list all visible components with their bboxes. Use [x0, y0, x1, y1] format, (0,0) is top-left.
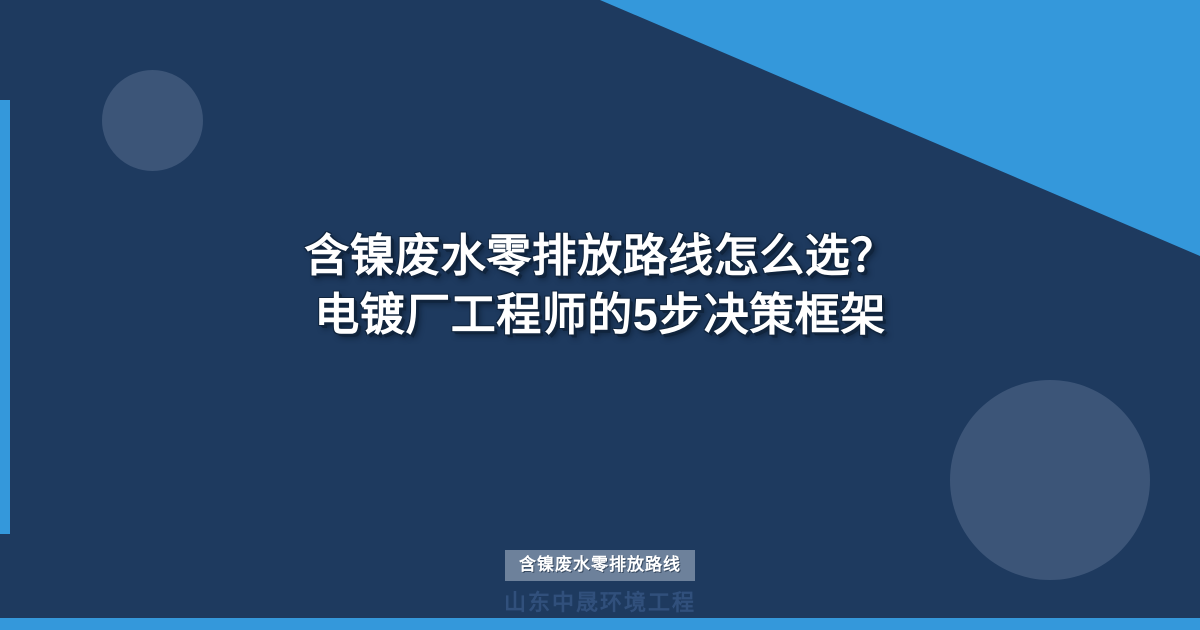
decorative-circle-top-left — [102, 70, 203, 171]
bottom-accent-bar — [0, 618, 1200, 630]
footer: 含镍废水零排放路线 山东中晟环境工程 — [0, 550, 1200, 616]
footer-topic-badge: 含镍废水零排放路线 — [505, 550, 695, 580]
cover-banner: 含镍废水零排放路线怎么选？电镀厂工程师的5步决策框架 含镍废水零排放路线 山东中… — [0, 0, 1200, 630]
footer-brand-name: 山东中晟环境工程 — [504, 590, 696, 616]
left-accent-bar — [0, 100, 10, 534]
